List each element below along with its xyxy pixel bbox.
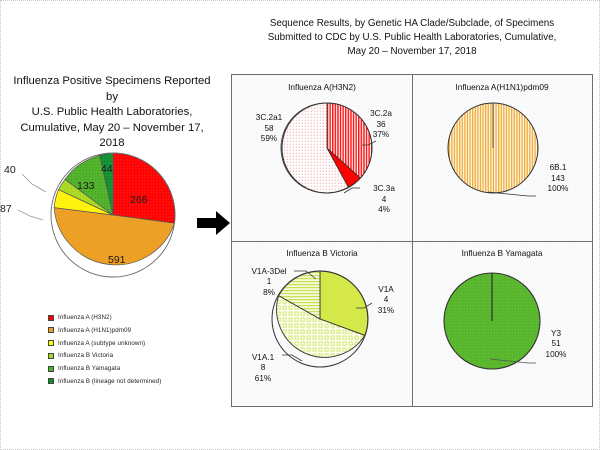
clade-percent: 100% [532,350,580,361]
left-panel-title: Influenza Positive Specimens Reported by… [6,74,218,152]
h1n1-pie-svg [446,101,540,195]
clade-name: 3C.3a [358,184,410,195]
clade-count: 4 [358,195,410,206]
legend-swatch-icon [48,366,54,372]
legend-label: Influenza A (H1N1)pdm09 [58,327,131,334]
clade-count: 8 [236,363,290,374]
right-title-line-3: May 20 – November 17, 2018 [236,45,588,59]
quadrant-b-yamagata: Influenza B Yamagata Y3 51 100% [412,241,592,407]
legend-swatch-icon [48,340,54,346]
victoria-leader-v1a3del [294,269,320,283]
clade-count: 143 [532,174,584,185]
sequence-results-grid: Influenza A(H3N2) 3C.2a1 58 59% [231,74,593,407]
legend-item-h1n1pdm09[interactable]: Influenza A (H1N1)pdm09 [48,325,218,337]
legend-label: Influenza B (lineage not determined) [58,378,161,385]
quadrant-h1n1pdm09: Influenza A(H1N1)pdm09 6B.1 143 100% [412,75,592,241]
legend-item-b-victoria[interactable]: Influenza B Victoria [48,350,218,362]
main-pie-chart: 266 591 133 44 40 87 [48,150,178,280]
pie-value-b-undetermined: 44 [101,163,113,175]
clade-name: 3C.2a1 [240,113,298,124]
clade-percent: 8% [238,288,300,299]
quadrant-h3n2: Influenza A(H3N2) 3C.2a1 58 59% [232,75,412,241]
legend-item-h3n2[interactable]: Influenza A (H3N2) [48,312,218,324]
h3n2-label-3c2a1: 3C.2a1 58 59% [240,113,298,145]
pie-value-h3n2: 266 [130,194,148,206]
legend-item-b-yamagata[interactable]: Influenza B Yamagata [48,363,218,375]
title-line-1: Influenza Positive Specimens Reported by [6,74,218,105]
clade-name: 6B.1 [532,163,584,174]
h3n2-label-3c3a: 3C.3a 4 4% [358,184,410,216]
clade-name: V1A-3Del [238,267,300,278]
right-arrow-icon [196,208,232,238]
clade-percent: 61% [236,374,290,385]
h1n1-label-6b1: 6B.1 143 100% [532,163,584,195]
quadrant-title: Influenza A(H1N1)pdm09 [412,82,592,92]
quadrant-title: Influenza B Yamagata [412,248,592,258]
title-line-3: Cumulative, May 20 – November 17, [6,121,218,137]
clade-percent: 59% [240,134,298,145]
pie-callout-victoria: 40 [4,164,16,176]
pie-value-yamagata: 133 [77,180,95,192]
right-panel-title: Sequence Results, by Genetic HA Clade/Su… [236,17,588,58]
legend-swatch-icon [48,327,54,333]
legend: Influenza A (H3N2) Influenza A (H1N1)pdm… [48,312,218,388]
clade-count: 1 [238,277,300,288]
victoria-leader-v1a [358,303,378,313]
leader-line-victoria [22,172,58,200]
leader-line-subtype-unknown [18,208,54,228]
yamagata-leader-y3 [490,359,536,367]
h1n1-leader-6b1 [488,192,536,200]
clade-percent: 100% [532,184,584,195]
clade-count: 58 [240,124,298,135]
title-line-2: U.S. Public Health Laboratories, [6,105,218,121]
clade-count: 36 [356,120,406,131]
clade-count: 51 [532,339,580,350]
legend-label: Influenza A (H3N2) [58,314,112,321]
quadrant-title: Influenza B Victoria [232,248,412,258]
quadrant-title: Influenza A(H3N2) [232,82,412,92]
pie-value-h1n1pdm09: 591 [108,254,126,266]
legend-swatch-icon [48,378,54,384]
clade-percent: 4% [358,205,410,216]
clade-name: 3C.2a [356,109,406,120]
legend-label: Influenza A (subtype unknown) [58,340,145,347]
h3n2-label-3c2a: 3C.2a 36 37% [356,109,406,141]
victoria-leader-v1a1 [282,353,306,365]
clade-name: V1A [364,285,408,296]
legend-label: Influenza B Victoria [58,352,113,359]
yamagata-pie-svg [442,271,542,371]
legend-item-b-undetermined[interactable]: Influenza B (lineage not determined) [48,375,218,387]
left-panel: Influenza Positive Specimens Reported by… [0,74,222,404]
h3n2-leader-3c2a [364,139,382,149]
legend-swatch-icon [48,353,54,359]
h3n2-leader-3c3a [344,183,364,195]
clade-name: Y3 [532,329,580,340]
legend-label: Influenza B Yamagata [58,365,120,372]
legend-item-subtype-unknown[interactable]: Influenza A (subtype unknown) [48,337,218,349]
right-title-line-2: Submitted to CDC by U.S. Public Health L… [236,31,588,45]
yamagata-label-y3: Y3 51 100% [532,329,580,361]
quadrant-b-victoria: Influenza B Victoria V1A-3Del 1 8% [232,241,412,407]
right-title-line-1: Sequence Results, by Genetic HA Clade/Su… [236,17,588,31]
legend-swatch-icon [48,315,54,321]
pie-callout-subtype-unknown: 87 [0,203,12,215]
victoria-label-v1a3del: V1A-3Del 1 8% [238,267,300,299]
